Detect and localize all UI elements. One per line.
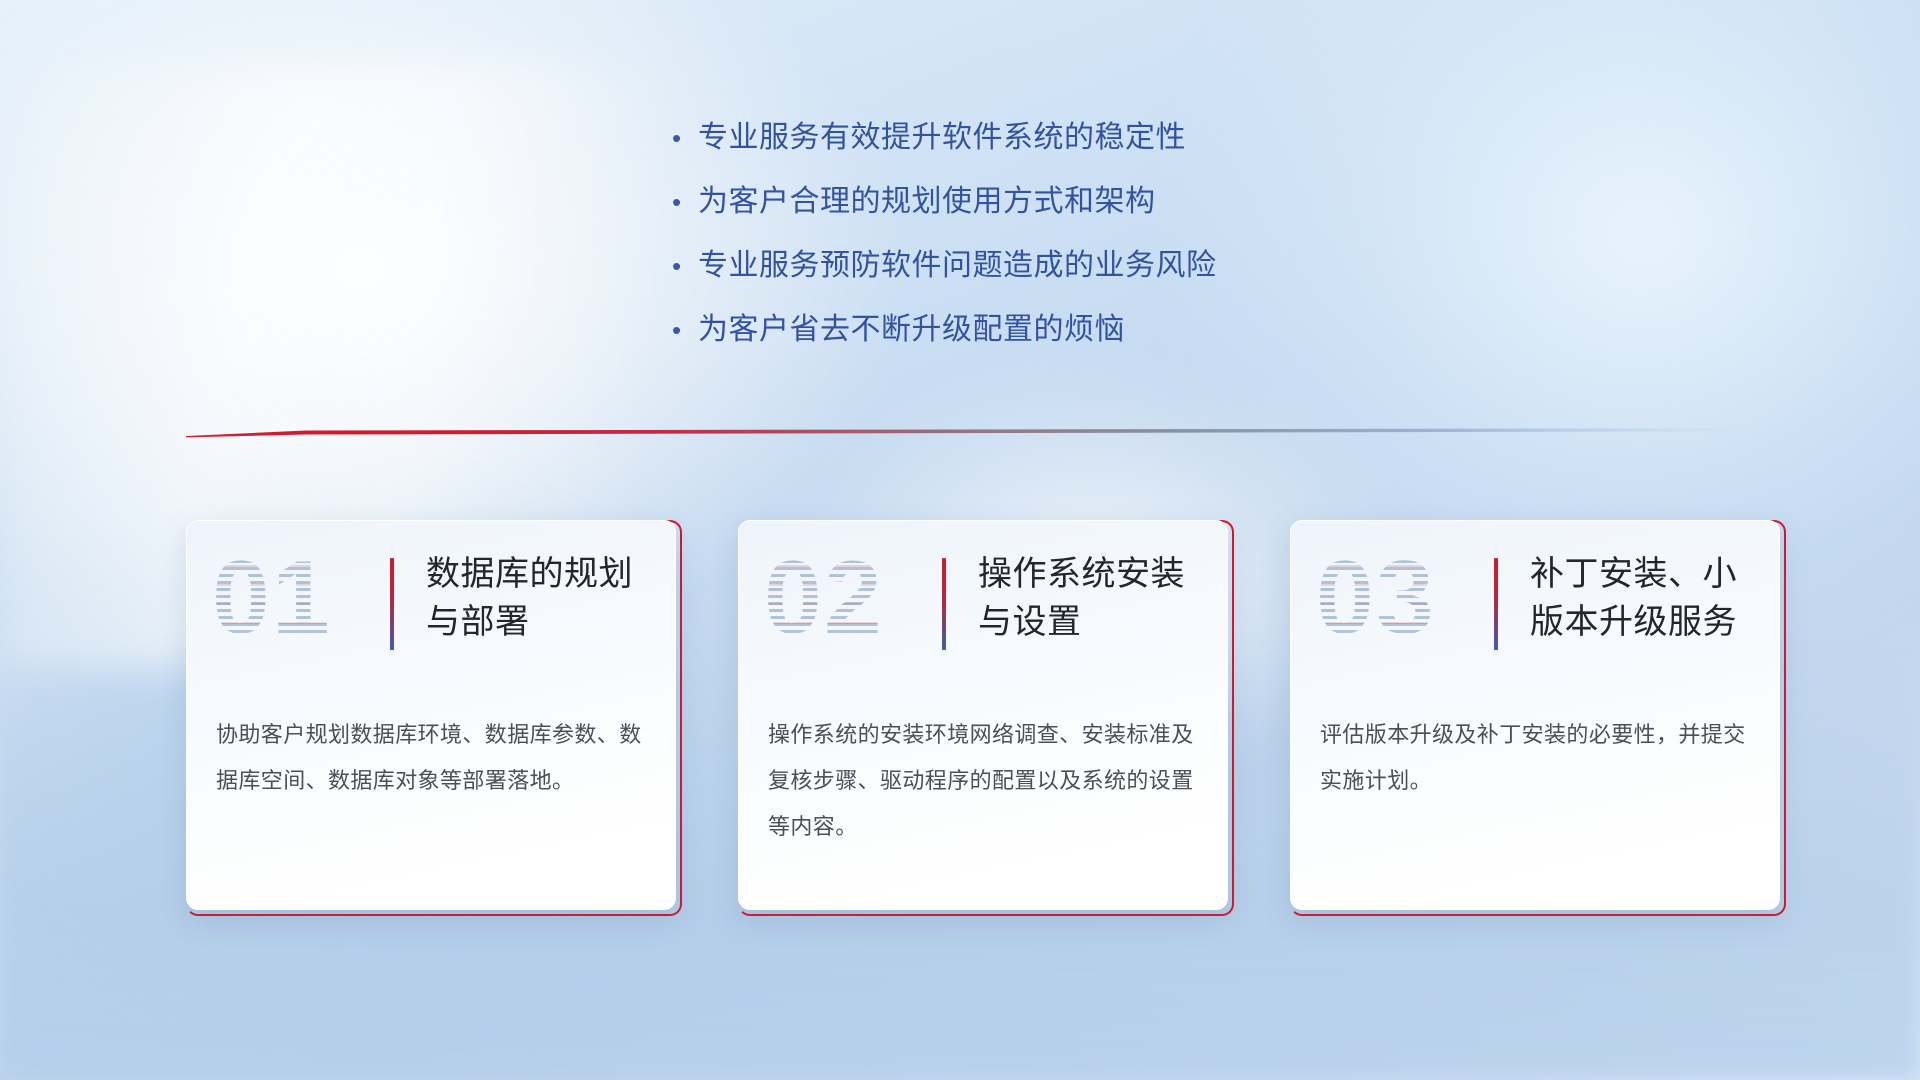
bullet-dot-icon: • (672, 236, 698, 296)
title-accent-bar (1494, 558, 1498, 650)
list-item: • 专业服务有效提升软件系统的稳定性 (672, 108, 1217, 172)
title-accent-bar (942, 558, 946, 650)
bullet-dot-icon: • (672, 172, 698, 232)
card-surface: 02 02 操作系统安装与设置 操作系统的安装环境网络调查、安装标准及复核步骤、… (738, 520, 1228, 910)
service-card[interactable]: 03 03 补丁安装、小版本升级服务 评估版本升级及补丁安装的必要性，并提交实施… (1290, 520, 1786, 916)
card-description: 评估版本升级及补丁安装的必要性，并提交实施计划。 (1320, 712, 1750, 804)
list-item: • 为客户合理的规划使用方式和架构 (672, 172, 1217, 236)
bullet-dot-icon: • (672, 108, 698, 168)
card-header: 01 01 数据库的规划与部署 (186, 520, 676, 688)
section-divider (186, 424, 1746, 440)
card-index-watermark-red-scan: 02 (764, 546, 884, 650)
bullet-text: 为客户合理的规划使用方式和架构 (698, 172, 1156, 232)
service-card[interactable]: 02 02 操作系统安装与设置 操作系统的安装环境网络调查、安装标准及复核步骤、… (738, 520, 1234, 916)
card-description: 操作系统的安装环境网络调查、安装标准及复核步骤、驱动程序的配置以及系统的设置等内… (768, 712, 1198, 850)
card-header: 03 03 补丁安装、小版本升级服务 (1290, 520, 1780, 688)
benefits-bullet-list: • 专业服务有效提升软件系统的稳定性 • 为客户合理的规划使用方式和架构 • 专… (672, 108, 1217, 364)
card-surface: 01 01 数据库的规划与部署 协助客户规划数据库环境、数据库参数、数据库空间、… (186, 520, 676, 910)
card-title: 数据库的规划与部署 (426, 550, 656, 646)
slide-canvas: • 专业服务有效提升软件系统的稳定性 • 为客户合理的规划使用方式和架构 • 专… (0, 0, 1920, 1080)
service-card[interactable]: 01 01 数据库的规划与部署 协助客户规划数据库环境、数据库参数、数据库空间、… (186, 520, 682, 916)
card-title: 补丁安装、小版本升级服务 (1530, 550, 1760, 646)
bullet-dot-icon: • (672, 300, 698, 360)
bullet-text: 为客户省去不断升级配置的烦恼 (698, 300, 1125, 360)
card-description: 协助客户规划数据库环境、数据库参数、数据库空间、数据库对象等部署落地。 (216, 712, 646, 804)
service-card-group: 01 01 数据库的规划与部署 协助客户规划数据库环境、数据库参数、数据库空间、… (186, 520, 1790, 920)
card-title: 操作系统安装与设置 (978, 550, 1208, 646)
bullet-text: 专业服务有效提升软件系统的稳定性 (698, 108, 1186, 168)
card-index-watermark-red-scan: 03 (1316, 546, 1436, 650)
list-item: • 为客户省去不断升级配置的烦恼 (672, 300, 1217, 364)
bullet-text: 专业服务预防软件问题造成的业务风险 (698, 236, 1217, 296)
card-header: 02 02 操作系统安装与设置 (738, 520, 1228, 688)
card-index-watermark-red-scan: 01 (212, 546, 332, 650)
card-surface: 03 03 补丁安装、小版本升级服务 评估版本升级及补丁安装的必要性，并提交实施… (1290, 520, 1780, 910)
list-item: • 专业服务预防软件问题造成的业务风险 (672, 236, 1217, 300)
title-accent-bar (390, 558, 394, 650)
